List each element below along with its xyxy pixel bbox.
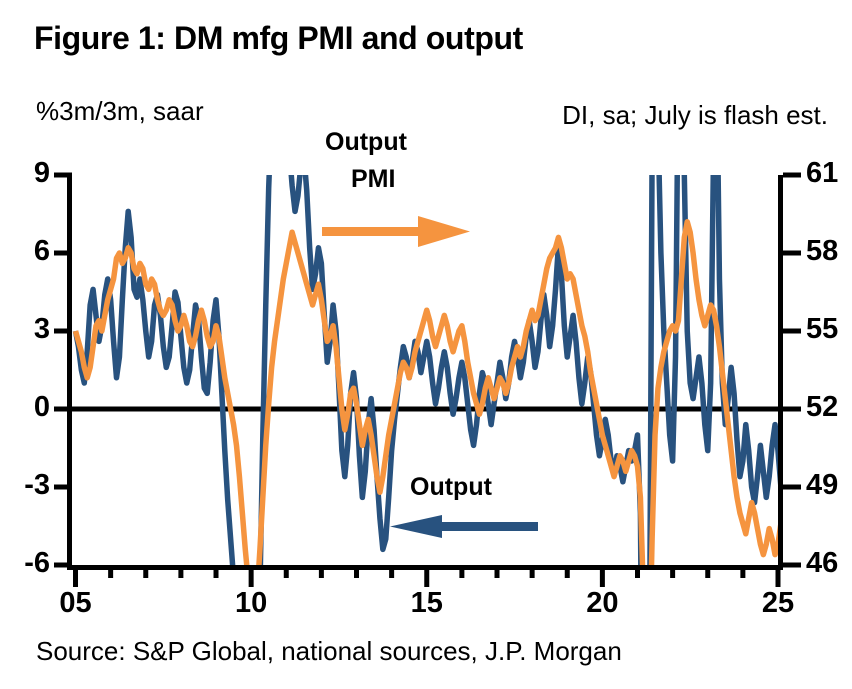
y-axis-tick-left--6: -6 xyxy=(0,547,50,580)
pmi-annotation-line1: Output xyxy=(325,128,407,157)
y-axis-tick-right-49: 49 xyxy=(806,469,852,502)
page-title: Figure 1: DM mfg PMI and output xyxy=(34,20,523,57)
x-axis-tick-05: 05 xyxy=(41,587,111,620)
pmi-annotation-line2: PMI xyxy=(351,165,395,194)
y-axis-tick-left-9: 9 xyxy=(0,157,50,190)
x-axis-tick-20: 20 xyxy=(567,587,637,620)
y-axis-tick-left-3: 3 xyxy=(0,313,50,346)
output-annotation-label: Output xyxy=(410,473,492,502)
x-axis-tick-10: 10 xyxy=(216,587,286,620)
arrow-right-icon xyxy=(322,216,470,247)
right-axis-units-label: DI, sa; July is flash est. xyxy=(562,100,828,131)
x-axis-tick-15: 15 xyxy=(392,587,462,620)
figure-container: Figure 1: DM mfg PMI and output %3m/3m, … xyxy=(0,0,852,689)
y-axis-tick-left--3: -3 xyxy=(0,469,50,502)
y-axis-tick-right-58: 58 xyxy=(806,235,852,268)
y-axis-tick-left-0: 0 xyxy=(0,391,50,424)
y-axis-tick-right-55: 55 xyxy=(806,313,852,346)
y-axis-tick-right-52: 52 xyxy=(806,391,852,424)
source-note: Source: S&P Global, national sources, J.… xyxy=(36,636,622,667)
arrow-left-icon xyxy=(390,515,538,538)
x-axis-tick-25: 25 xyxy=(743,587,813,620)
left-axis-units-label: %3m/3m, saar xyxy=(36,96,204,127)
y-axis-tick-left-6: 6 xyxy=(0,235,50,268)
y-axis-tick-right-61: 61 xyxy=(806,157,852,190)
y-axis-tick-right-46: 46 xyxy=(806,547,852,580)
